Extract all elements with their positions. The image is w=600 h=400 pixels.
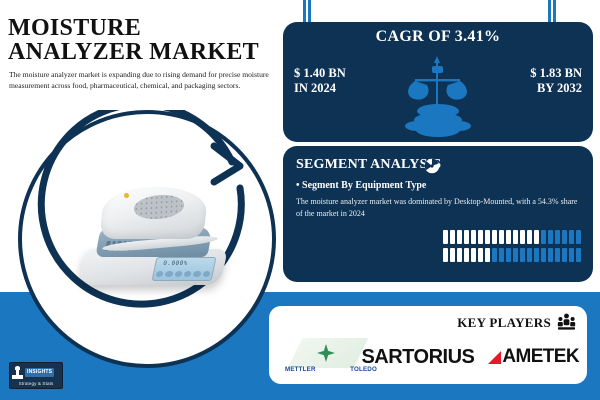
bar-segment <box>520 230 525 244</box>
bar-segment <box>450 248 455 262</box>
bar-segment <box>478 230 483 244</box>
bar-segment <box>492 230 497 244</box>
bar-segment <box>534 230 539 244</box>
bar-segment <box>513 248 518 262</box>
device-keypad <box>155 271 210 278</box>
market-value-card: CAGR OF 3.41% $ 1.40 BN IN 2024 $ 1.83 B… <box>283 22 593 142</box>
publisher-name: INSIGHTS <box>25 368 54 377</box>
segment-analysis-title: SEGMENT ANALYSIS <box>296 157 441 173</box>
bar-segment <box>562 230 567 244</box>
key-players-logos: METTLER TOLEDO SARTORIUS AMETEK <box>277 336 579 378</box>
publisher-logo: INSIGHTS Strategy & Stats <box>9 362 63 389</box>
pie-chart-icon <box>424 158 440 174</box>
bar-segment <box>450 230 455 244</box>
bar-segment <box>443 230 448 244</box>
bar-segment <box>527 248 532 262</box>
segment-analysis-card: SEGMENT ANALYSIS • Segment By Equipment … <box>283 146 593 282</box>
bar-segment <box>443 248 448 262</box>
cagr-label: CAGR OF 3.41% <box>283 28 593 46</box>
market-value-base-amount: $ 1.40 BN <box>294 66 346 81</box>
bar-segment <box>457 230 462 244</box>
segment-share-bar-chart <box>443 230 581 266</box>
logo-mettler-toledo-word2: TOLEDO <box>350 366 377 373</box>
bar-segment <box>464 230 469 244</box>
bar-segment <box>569 230 574 244</box>
bar-segment <box>485 230 490 244</box>
bar-segment <box>506 248 511 262</box>
bar-row-secondary <box>443 248 581 262</box>
bar-segment <box>548 230 553 244</box>
publisher-logo-row: INSIGHTS <box>12 365 60 380</box>
device-indicator-dot <box>124 193 129 198</box>
podium-group-icon <box>557 313 576 330</box>
logo-sartorius: SARTORIUS <box>361 346 474 369</box>
bar-segment <box>534 248 539 262</box>
lighthouse-icon <box>12 366 23 380</box>
bar-segment <box>569 248 574 262</box>
market-value-base-year: IN 2024 <box>294 81 346 96</box>
bar-segment <box>520 248 525 262</box>
bar-segment <box>506 230 511 244</box>
market-value-forecast-year: BY 2032 <box>530 81 582 96</box>
key-players-card: KEY PLAYERS METTLER TOLEDO SARTO <box>269 306 587 384</box>
moisture-analyzer-product-image: 0.000% <box>78 183 228 293</box>
balance-scale-coins-icon <box>405 52 471 140</box>
segment-description: The moisture analyzer market was dominat… <box>296 196 582 220</box>
logo-mettler-toledo: METTLER TOLEDO <box>277 336 359 378</box>
bar-segment <box>499 248 504 262</box>
bar-segment <box>541 248 546 262</box>
page-subtitle: The moisture analyzer market is expandin… <box>9 70 277 92</box>
market-value-forecast: $ 1.83 BN BY 2032 <box>530 66 582 96</box>
bar-row-primary <box>443 230 581 244</box>
bar-segment <box>576 248 581 262</box>
bar-segment <box>457 248 462 262</box>
bar-segment <box>478 248 483 262</box>
bar-segment <box>485 248 490 262</box>
bar-segment <box>471 230 476 244</box>
segment-bullet-label: • Segment By Equipment Type <box>296 180 426 191</box>
bar-segment <box>492 248 497 262</box>
logo-ametek: AMETEK <box>488 346 579 368</box>
page-title: MOISTURE ANALYZER MARKET <box>8 16 280 65</box>
publisher-tagline: Strategy & Stats <box>12 381 60 386</box>
bar-segment <box>576 230 581 244</box>
bar-segment <box>541 230 546 244</box>
ametek-triangle-icon <box>488 351 501 364</box>
bar-segment <box>548 248 553 262</box>
bar-segment <box>555 230 560 244</box>
infographic-root: 0.000% MOISTURE ANALYZER MARKET The mois… <box>0 0 600 400</box>
bar-segment <box>499 230 504 244</box>
bar-segment <box>562 248 567 262</box>
bar-segment <box>555 248 560 262</box>
bar-segment <box>527 230 532 244</box>
market-value-base: $ 1.40 BN IN 2024 <box>294 66 346 96</box>
key-players-title: KEY PLAYERS <box>457 315 551 331</box>
logo-mettler-toledo-word1: METTLER <box>285 366 316 373</box>
bar-segment <box>513 230 518 244</box>
device-display-value: 0.000% <box>162 260 188 267</box>
logo-ametek-text: AMETEK <box>502 346 579 368</box>
bar-segment <box>464 248 469 262</box>
market-value-forecast-amount: $ 1.83 BN <box>530 66 582 81</box>
bar-segment <box>471 248 476 262</box>
